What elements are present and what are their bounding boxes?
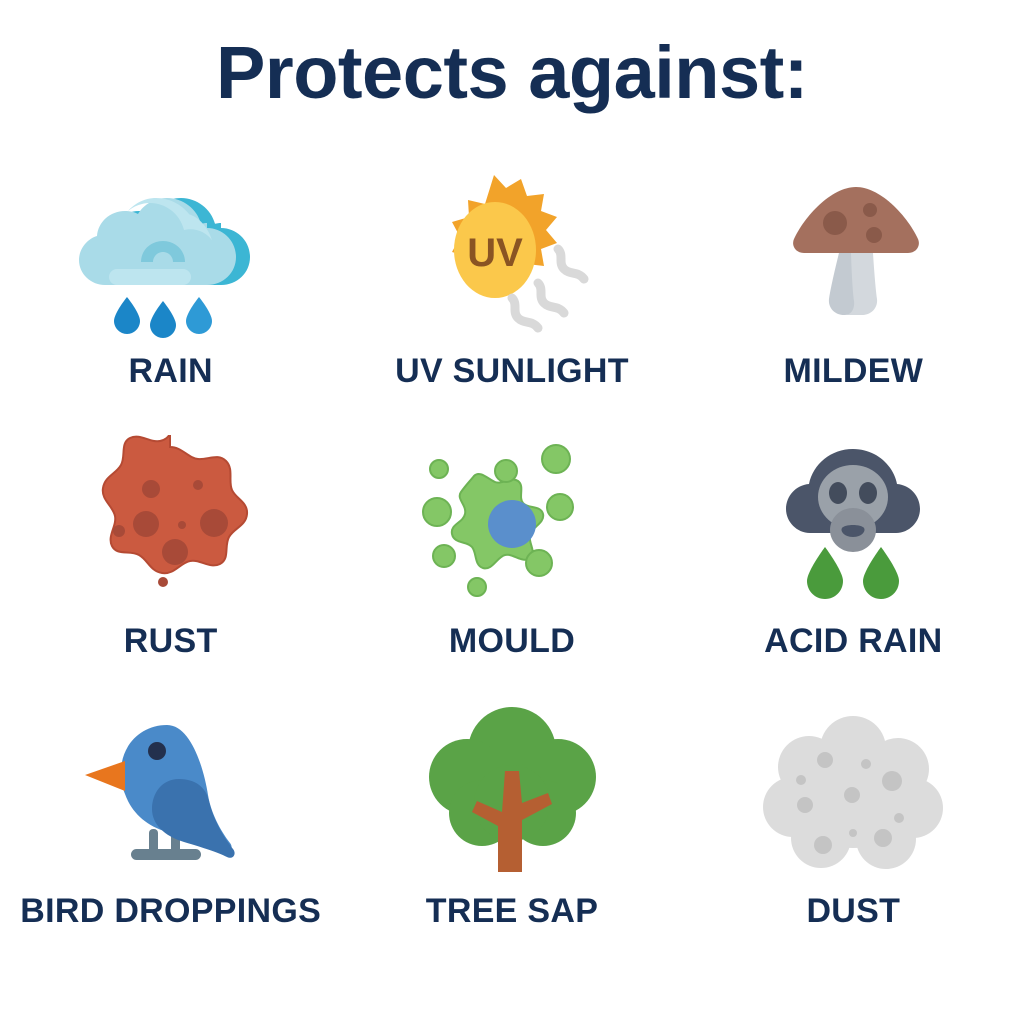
rain-cloud-icon: [71, 165, 271, 350]
grid-item-tree-sap: TREE SAP: [341, 705, 682, 975]
mould-spore-icon: [412, 435, 612, 620]
grid-item-label: MILDEW: [783, 354, 923, 390]
grid-item-label: RUST: [124, 624, 218, 660]
mushroom-icon: [753, 165, 953, 350]
grid-item-label: BIRD DROPPINGS: [20, 894, 321, 930]
uv-badge-text: UV: [467, 231, 523, 275]
grid-item-mildew: MILDEW: [683, 165, 1024, 435]
infographic-page: Protects against: RAIN: [0, 0, 1024, 1024]
grid-item-rust: RUST: [0, 435, 341, 705]
tree-icon: [412, 705, 612, 890]
rust-blob-icon: [71, 435, 271, 620]
grid-item-bird-droppings: BIRD DROPPINGS: [0, 705, 341, 975]
grid-item-label: ACID RAIN: [764, 624, 942, 660]
dust-cloud-icon: [753, 705, 953, 890]
grid-item-mould: MOULD: [341, 435, 682, 705]
grid-item-label: DUST: [806, 894, 900, 930]
grid-item-label: RAIN: [129, 354, 213, 390]
grid-item-uv-sunlight: UV UV SUNLIGHT: [341, 165, 682, 435]
grid-item-rain: RAIN: [0, 165, 341, 435]
grid-item-label: MOULD: [449, 624, 575, 660]
grid-item-label: UV SUNLIGHT: [395, 354, 629, 390]
acid-rain-icon: [753, 435, 953, 620]
bird-icon: [71, 705, 271, 890]
grid-item-label: TREE SAP: [426, 894, 598, 930]
protects-against-grid: RAIN UV UV SUNLIGHT: [0, 165, 1024, 975]
uv-sun-icon: UV: [412, 165, 612, 350]
page-title: Protects against:: [0, 36, 1024, 110]
grid-item-dust-cloud: DUST: [683, 705, 1024, 975]
grid-item-acid-rain: ACID RAIN: [683, 435, 1024, 705]
